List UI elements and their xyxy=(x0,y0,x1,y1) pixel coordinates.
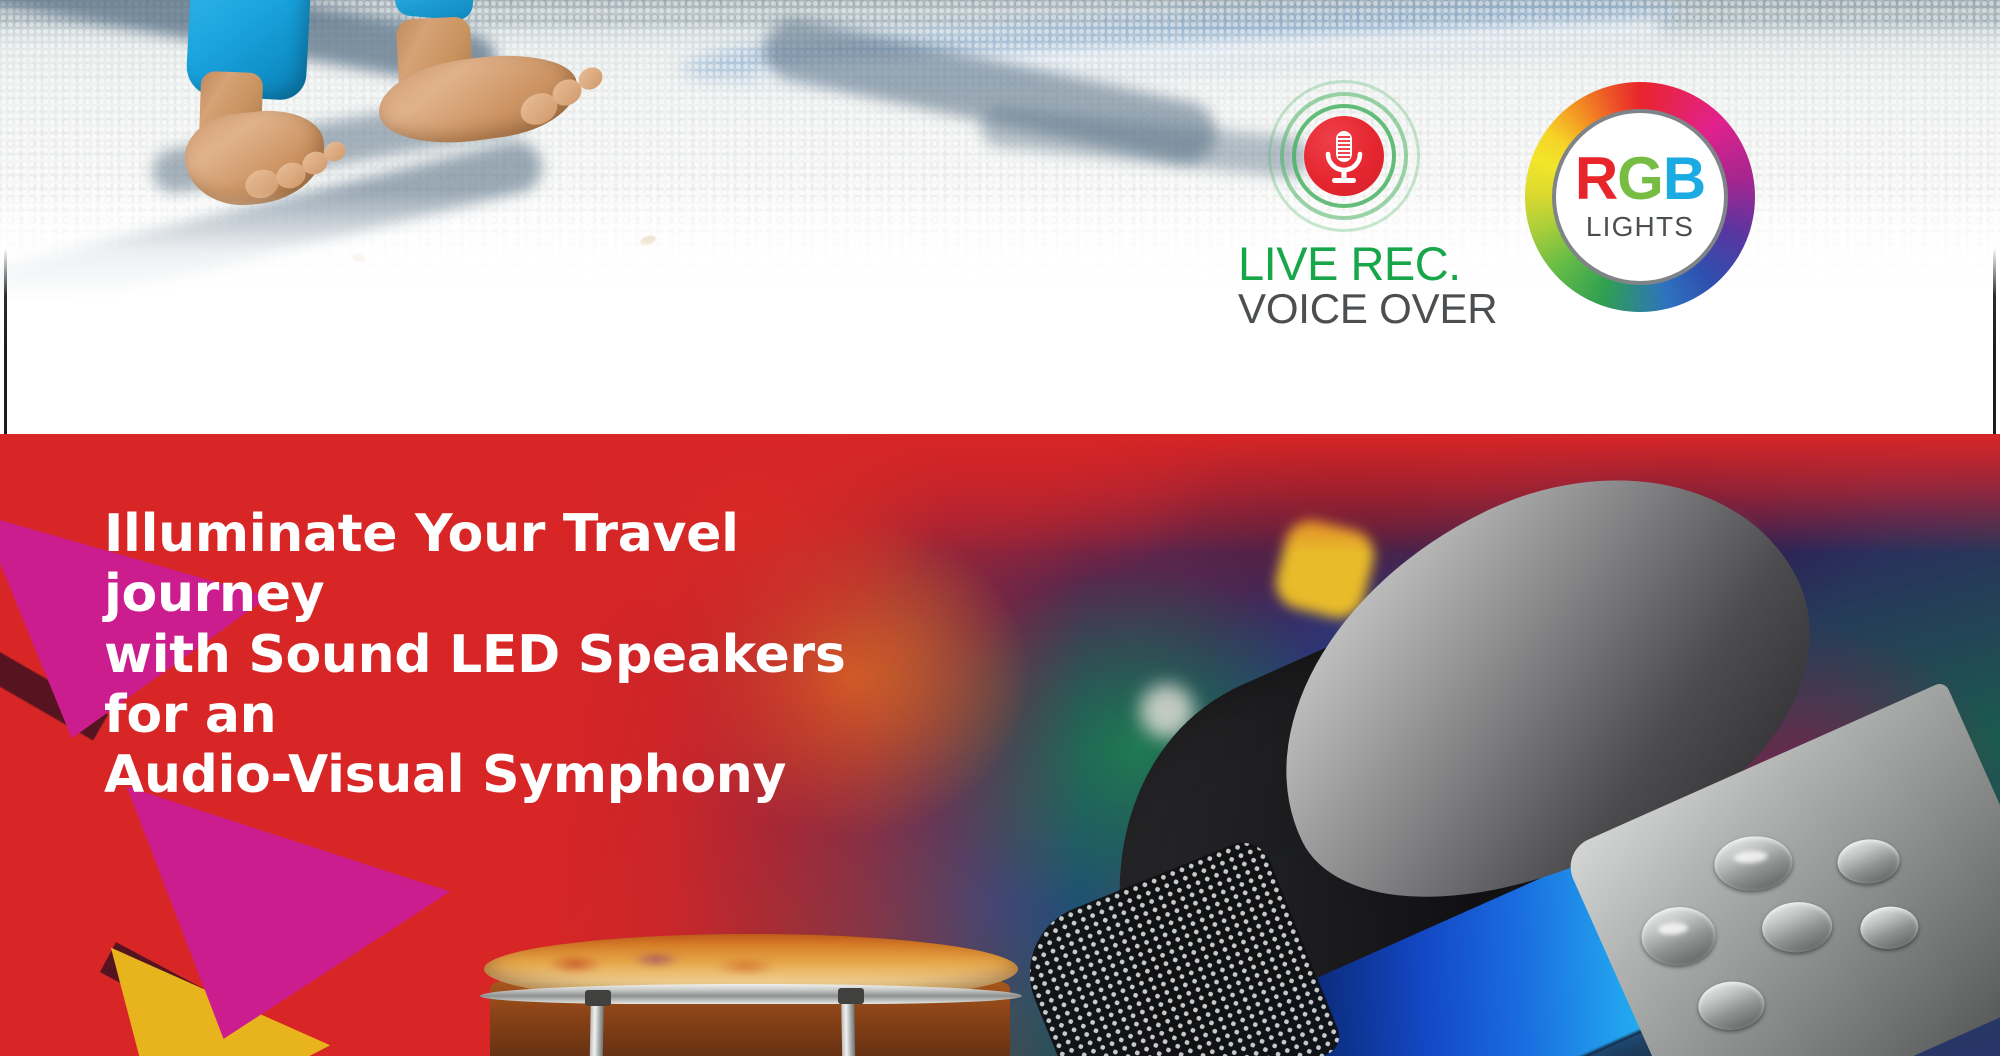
speaker-button[interactable] xyxy=(1640,905,1718,968)
red-hero-panel: Illuminate Your Travel journey with Soun… xyxy=(0,434,2000,1056)
live-rec-badge: LIVE REC. VOICE OVER xyxy=(1238,80,1478,280)
hero-headline: Illuminate Your Travel journey with Soun… xyxy=(104,504,924,806)
rgb-letter-b: B xyxy=(1663,145,1705,212)
sound-wave-rings xyxy=(1268,80,1420,232)
speaker-button[interactable] xyxy=(1836,837,1901,885)
left-border-rule xyxy=(4,248,7,434)
tension-rod xyxy=(841,1000,856,1056)
speaker-button[interactable] xyxy=(1713,834,1795,893)
right-border-rule xyxy=(1993,248,1996,434)
rgb-letter-r: R xyxy=(1575,145,1617,212)
speaker-button[interactable] xyxy=(1859,905,1920,951)
rgb-inner-disc: RGB LIGHTS xyxy=(1552,109,1728,285)
live-rec-title: LIVE REC. xyxy=(1238,240,1478,287)
speaker-button[interactable] xyxy=(1697,979,1766,1031)
rgb-lights-subtitle: LIGHTS xyxy=(1586,211,1694,243)
drum-lug xyxy=(585,990,611,1006)
drum-rim xyxy=(480,984,1022,1004)
rgb-wordmark: RGB xyxy=(1575,151,1705,206)
drum-lug xyxy=(838,988,864,1004)
drum-artwork xyxy=(530,942,830,986)
led-bluetooth-speaker xyxy=(1080,484,2000,1056)
voice-over-subtitle: VOICE OVER xyxy=(1238,288,1498,330)
tension-rod xyxy=(589,1000,604,1056)
rgb-lights-badge: RGB LIGHTS xyxy=(1525,82,1755,312)
rgb-letter-g: G xyxy=(1617,145,1663,212)
microphone-icon xyxy=(1304,116,1384,196)
promo-banner: LIVE REC. VOICE OVER RGB LIGHTS xyxy=(0,0,2000,1056)
speaker-button[interactable] xyxy=(1761,900,1834,955)
drum-instrument xyxy=(470,926,1030,1056)
white-separator-band xyxy=(0,300,2000,434)
